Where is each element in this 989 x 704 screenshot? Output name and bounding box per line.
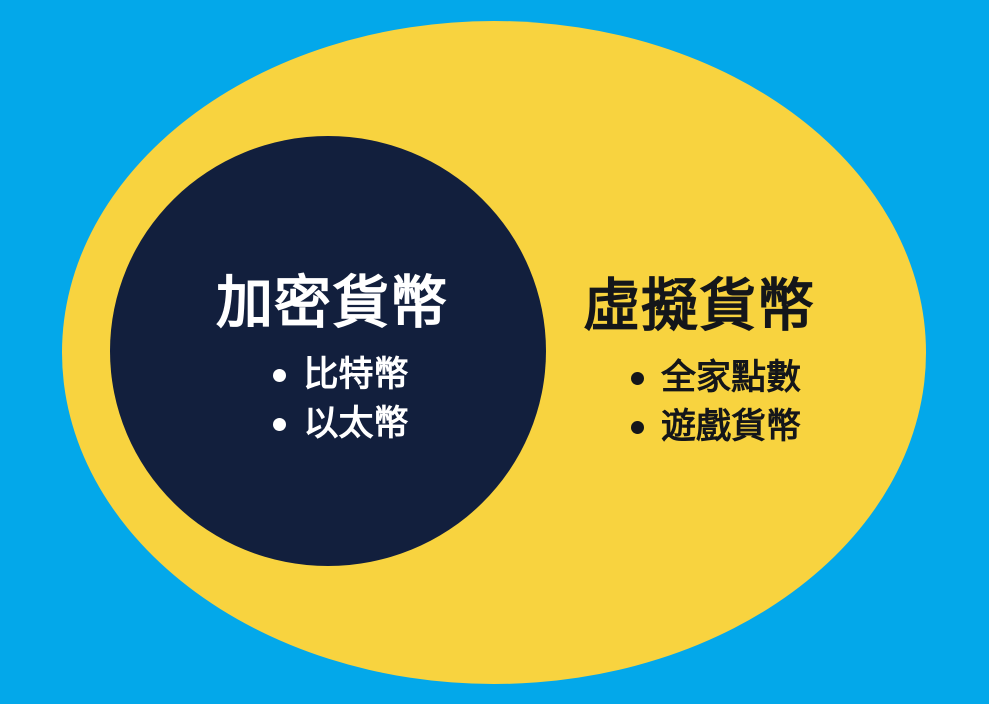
- diagram-canvas: 加密貨幣 比特幣 以太幣 虛擬貨幣 全家點數 遊戲貨幣: [0, 0, 989, 704]
- list-item-label: 全家點數: [661, 361, 801, 396]
- virtual-currency-label-group: 虛擬貨幣 全家點數 遊戲貨幣: [573, 278, 873, 459]
- crypto-currency-label-group: 加密貨幣 比特幣 以太幣: [110, 275, 546, 456]
- list-item: 以太幣: [273, 407, 408, 442]
- virtual-currency-title: 虛擬貨幣: [573, 278, 873, 335]
- list-item-label: 比特幣: [303, 358, 408, 393]
- bullet-dot-icon: [273, 418, 286, 431]
- bullet-dot-icon: [631, 421, 644, 434]
- bullet-dot-icon: [631, 372, 644, 385]
- list-item: 比特幣: [273, 358, 408, 393]
- list-item-label: 遊戲貨幣: [661, 410, 801, 445]
- list-item: 遊戲貨幣: [631, 410, 873, 445]
- list-item: 全家點數: [631, 361, 873, 396]
- crypto-currency-item-list: 比特幣 以太幣: [247, 358, 408, 456]
- crypto-currency-title: 加密貨幣: [110, 275, 546, 332]
- virtual-currency-item-list: 全家點數 遊戲貨幣: [573, 361, 873, 445]
- bullet-dot-icon: [273, 369, 286, 382]
- list-item-label: 以太幣: [303, 407, 408, 442]
